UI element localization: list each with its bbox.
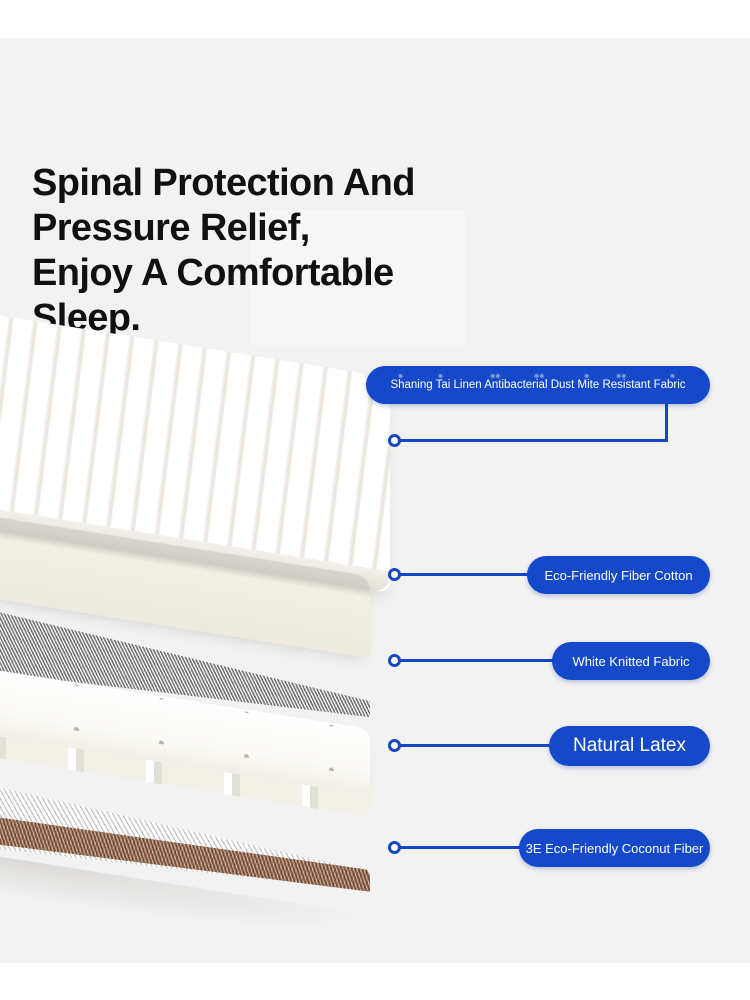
callout-label-coconut-fiber: 3E Eco-Friendly Coconut Fiber <box>526 841 704 856</box>
callout-dot-natural-latex[interactable] <box>388 739 401 752</box>
callout-lead-knitted-fabric <box>396 659 562 662</box>
callout-pill-fiber-cotton[interactable]: Eco-Friendly Fiber Cotton <box>527 556 710 594</box>
callout-label-fiber-cotton: Eco-Friendly Fiber Cotton <box>544 568 692 583</box>
callout-label-knitted-fabric: White Knitted Fabric <box>572 654 689 669</box>
product-feature-page: Spinal Protection And Pressure Relief, E… <box>0 0 750 1000</box>
callout-label-fabric: Shaning Tai Linen Antibacterial Dust Mit… <box>390 379 685 391</box>
callout-lead-coconut-fiber <box>396 846 527 849</box>
callout-lead-natural-latex <box>396 744 559 747</box>
callout-dot-fabric[interactable] <box>388 434 401 447</box>
callout-lead-fiber-cotton <box>396 573 536 576</box>
callout-dot-coconut-fiber[interactable] <box>388 841 401 854</box>
callout-pill-fabric[interactable]: • • •• •• • •• • Shaning Tai Linen Antib… <box>366 366 710 404</box>
callout-pill-natural-latex[interactable]: Natural Latex <box>549 726 710 766</box>
callout-dot-knitted-fabric[interactable] <box>388 654 401 667</box>
callout-pill-knitted-fabric[interactable]: White Knitted Fabric <box>552 642 710 680</box>
callout-lead-fabric <box>396 439 668 442</box>
content-card: Spinal Protection And Pressure Relief, E… <box>0 38 750 963</box>
callout-pill-coconut-fiber[interactable]: 3E Eco-Friendly Coconut Fiber <box>519 829 710 867</box>
callout-label-natural-latex: Natural Latex <box>573 735 686 757</box>
callout-group: • • •• •• • •• • Shaning Tai Linen Antib… <box>0 38 750 963</box>
callout-dot-fiber-cotton[interactable] <box>388 568 401 581</box>
